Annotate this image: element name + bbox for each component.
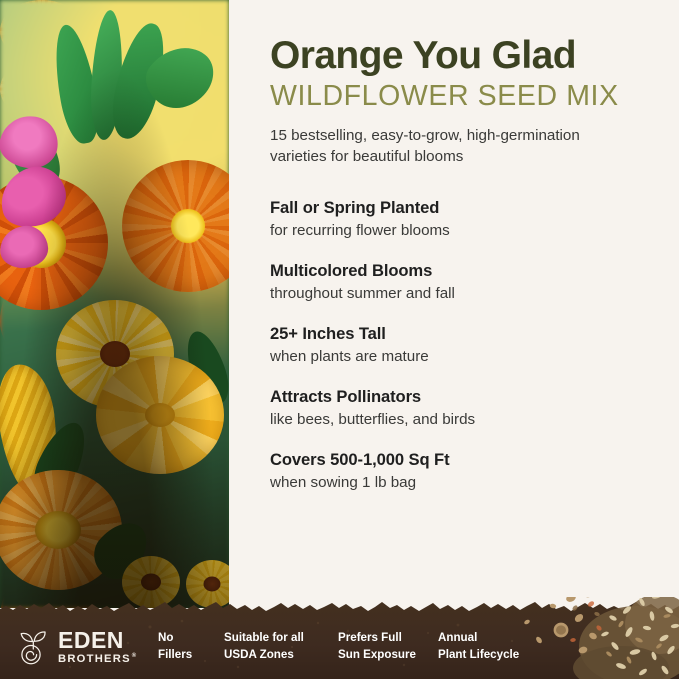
- footer-badge-line2: Fillers: [158, 647, 224, 663]
- feature-subtext: throughout summer and fall: [270, 284, 665, 304]
- product-infographic: Orange You Glad WILDFLOWER SEED MIX 15 b…: [0, 0, 679, 679]
- feature-heading: Covers 500-1,000 Sq Ft: [270, 450, 665, 471]
- seed-texture: [509, 597, 679, 679]
- flower-photo: [0, 0, 229, 608]
- footer-badge-line2: Sun Exposure: [338, 647, 438, 663]
- feature-heading: 25+ Inches Tall: [270, 324, 665, 345]
- footer-badge: No Fillers: [158, 630, 224, 663]
- product-description: 15 bestselling, easy-to-grow, high-germi…: [270, 125, 630, 168]
- feature-heading: Fall or Spring Planted: [270, 198, 665, 219]
- brand-logo[interactable]: EDEN BROTHERS®: [17, 629, 137, 665]
- footer-badge: Suitable for all USDA Zones: [224, 630, 338, 663]
- footer-badge-line1: Suitable for all: [224, 630, 338, 646]
- footer-badge: Prefers Full Sun Exposure: [338, 630, 438, 663]
- footer-badges: No Fillers Suitable for all USDA Zones P…: [158, 630, 548, 663]
- feature-item: Multicolored Blooms throughout summer an…: [270, 261, 665, 304]
- feature-heading: Multicolored Blooms: [270, 261, 665, 282]
- footer-badge-line1: No: [158, 630, 224, 646]
- feature-item: Attracts Pollinators like bees, butterfl…: [270, 387, 665, 430]
- feature-subtext: when plants are mature: [270, 347, 665, 367]
- sprout-logo-icon: [17, 629, 51, 665]
- info-panel: Orange You Glad WILDFLOWER SEED MIX 15 b…: [229, 0, 679, 679]
- brand-subname: BROTHERS®: [58, 654, 137, 665]
- feature-item: Covers 500-1,000 Sq Ft when sowing 1 lb …: [270, 450, 665, 493]
- footer-badge-line1: Prefers Full: [338, 630, 438, 646]
- feature-item: 25+ Inches Tall when plants are mature: [270, 324, 665, 367]
- feature-heading: Attracts Pollinators: [270, 387, 665, 408]
- product-subtitle: WILDFLOWER SEED MIX: [270, 81, 665, 112]
- feature-item: Fall or Spring Planted for recurring flo…: [270, 198, 665, 241]
- registered-trademark-icon: ®: [132, 653, 138, 659]
- golden-cosmos-bloom: [96, 356, 224, 474]
- footer-soil-bar: EDEN BROTHERS® No Fillers Suitable for a…: [0, 597, 679, 679]
- product-title: Orange You Glad: [270, 36, 665, 77]
- brand-name: EDEN: [58, 629, 137, 652]
- footer-badge-line2: USDA Zones: [224, 647, 338, 663]
- brand-wordmark: EDEN BROTHERS®: [58, 629, 137, 665]
- feature-subtext: when sowing 1 lb bag: [270, 473, 665, 493]
- feature-subtext: for recurring flower blooms: [270, 221, 665, 241]
- seed-chaff-pile: [509, 597, 679, 679]
- feature-subtext: like bees, butterflies, and birds: [270, 410, 665, 430]
